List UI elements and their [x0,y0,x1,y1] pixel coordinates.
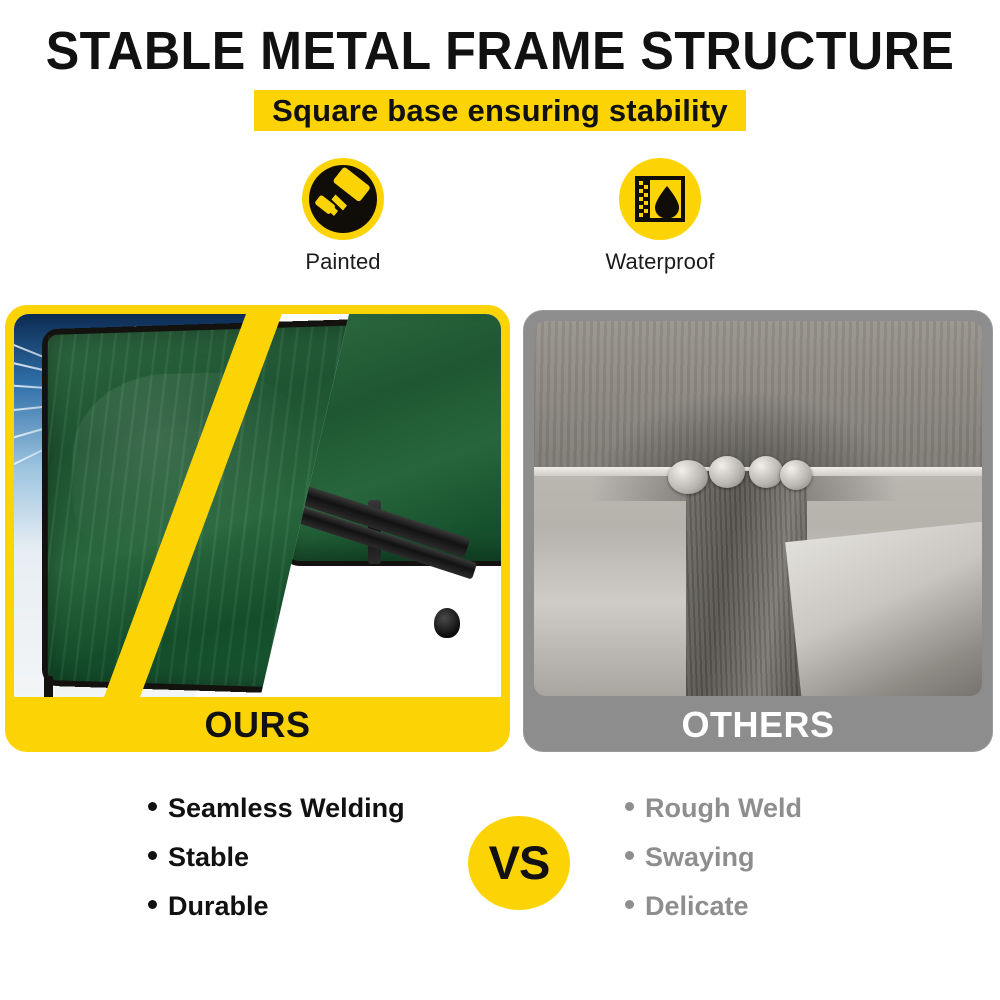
panel-label-others: OTHERS [523,697,993,752]
feature-badges: Painted [0,158,1000,288]
others-product-photo [534,321,982,696]
bullet-list-others: Rough Weld Swaying Delicate [625,784,802,931]
bullet-dot-icon [625,900,634,909]
bullet-text: Delicate [645,891,749,921]
bullet-text: Seamless Welding [168,793,405,823]
bullet-text: Durable [168,891,269,921]
list-item: Delicate [625,882,802,931]
bullet-list-ours: Seamless Welding Stable Durable [148,784,405,931]
bullet-dot-icon [148,851,157,860]
feature-painted: Painted [243,158,443,275]
list-item: Stable [148,833,405,882]
feature-waterproof: Waterproof [560,158,760,275]
list-item: Seamless Welding [148,784,405,833]
bullet-text: Stable [168,842,249,872]
bullet-text: Rough Weld [645,793,802,823]
feature-label-painted: Painted [243,249,443,275]
list-item: Rough Weld [625,784,802,833]
comparison-panel-ours: OURS [5,305,510,752]
bullet-text: Swaying [645,842,755,872]
paint-roller-icon [302,158,384,240]
ours-product-photo [14,314,501,697]
feature-label-waterproof: Waterproof [560,249,760,275]
bullet-dot-icon [148,900,157,909]
comparison-panel-others: OTHERS [523,310,993,752]
subtitle-banner-wrap: Square base ensuring stability [0,90,1000,131]
list-item: Durable [148,882,405,931]
bullet-dot-icon [625,802,634,811]
subtitle-banner: Square base ensuring stability [254,90,746,131]
vs-badge: VS [468,816,570,910]
waterproof-droplet-icon [619,158,701,240]
bullet-dot-icon [148,802,157,811]
list-item: Swaying [625,833,802,882]
panel-label-ours: OURS [5,697,510,752]
bullet-dot-icon [625,851,634,860]
page-title: STABLE METAL FRAME STRUCTURE [35,22,965,80]
